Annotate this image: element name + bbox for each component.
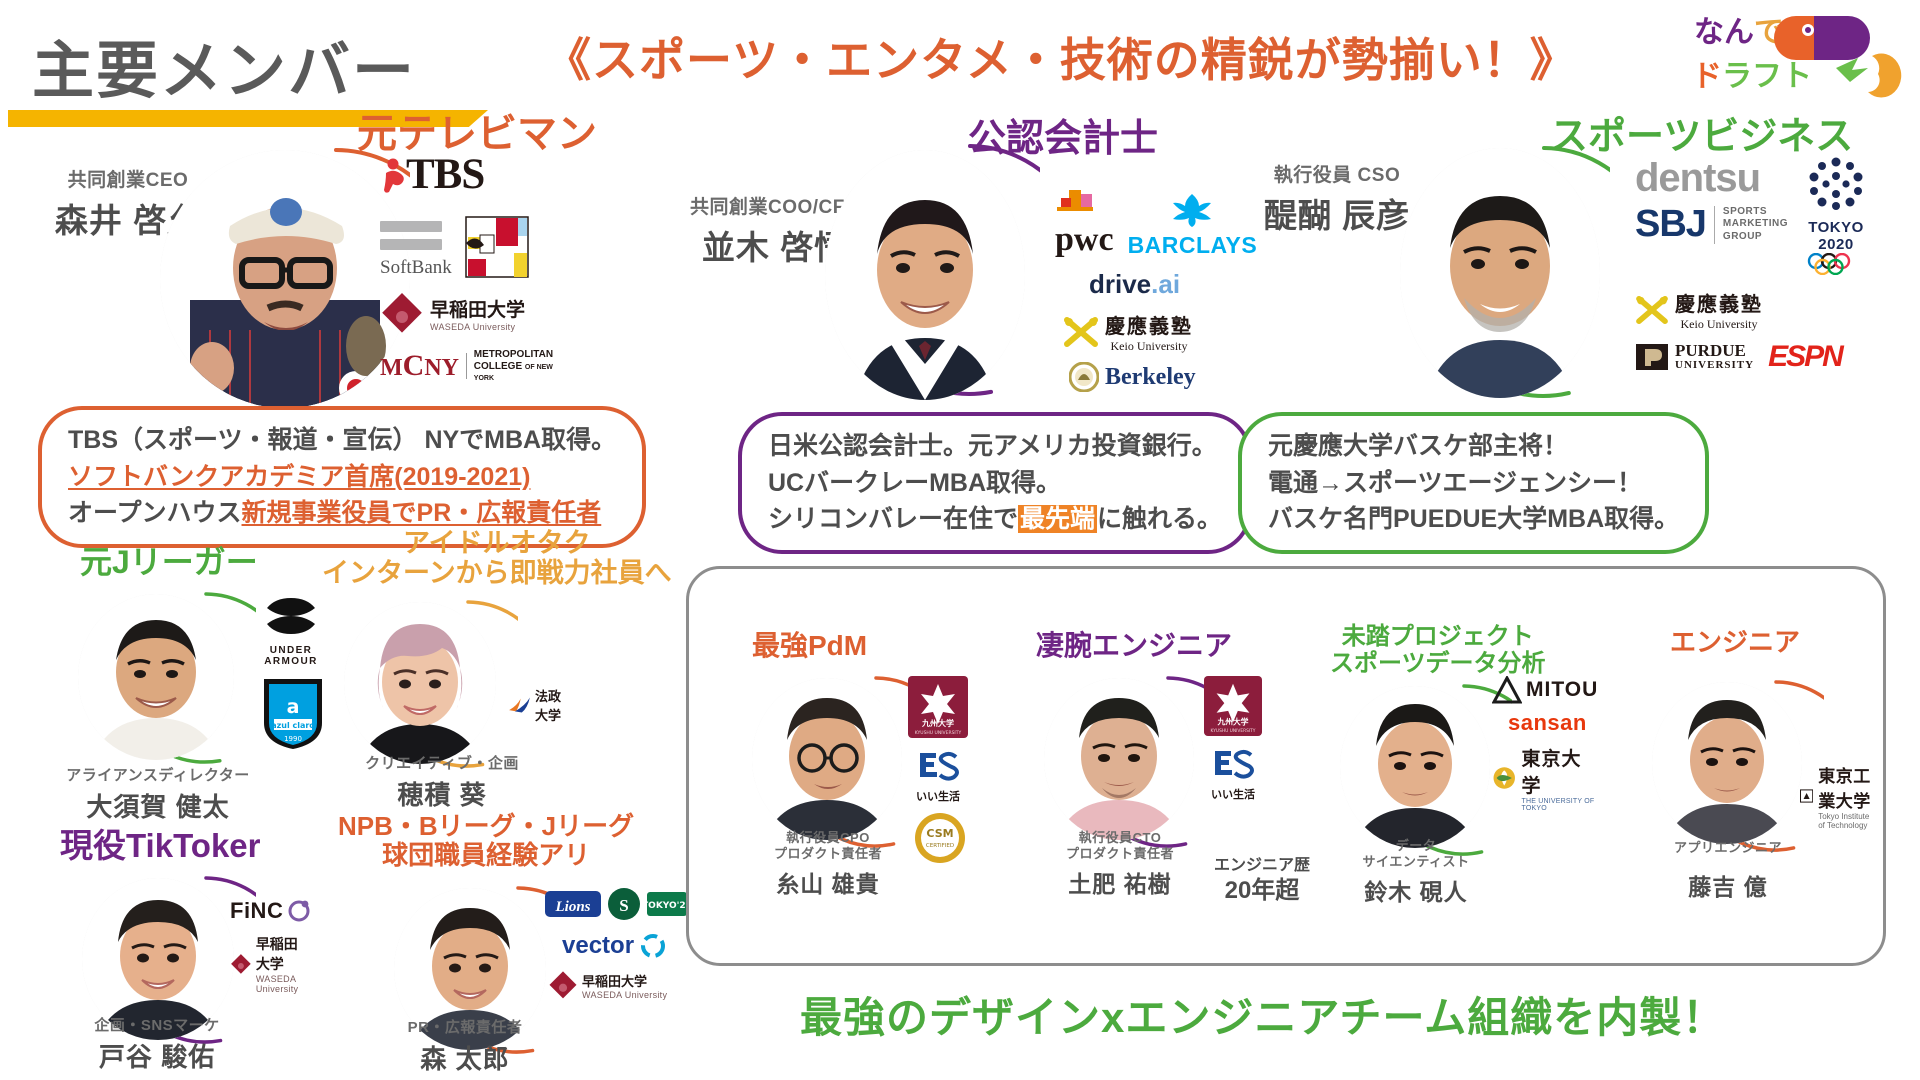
- member-5-role: クリエイティブ・企画 穂積 葵: [342, 752, 542, 812]
- member-3-logos: dentsu SBJ SPORTSMARKETINGGROUP: [1635, 156, 1868, 374]
- member-1-description: TBS（スポーツ・報道・宣伝） NYでMBA取得。 ソフトバンクアカデミア首席(…: [38, 406, 646, 548]
- kyushu-univ-icon: 九州大学 KYUSHU UNIVERSITY: [908, 676, 968, 738]
- member-2-description: 日米公認会計士。元アメリカ投資銀行。 UCバークレーMBA取得。 シリコンバレー…: [738, 412, 1252, 554]
- member-5-photo: [344, 602, 496, 764]
- member-3-description: 元慶應大学バスケ部主将！ 電通→スポーツエージェンシー！ バスケ名門PUEDUE…: [1238, 412, 1709, 554]
- kyushu-univ-icon: 九州大学 KYUSHU UNIVERSITY: [1204, 676, 1262, 736]
- iiseikatsu-label: いい生活: [908, 788, 968, 804]
- lions-logo-icon: Lions: [544, 887, 602, 921]
- csm-badge-icon: CSM CERTIFIED: [912, 810, 968, 866]
- headline-text: 《スポーツ・エンタメ・技術の精鋭が勢揃い！》: [545, 24, 1577, 90]
- waseda-label: 早稲田大学: [430, 295, 525, 322]
- mitou-logo: MITOU: [1526, 678, 1598, 702]
- purdue-p-icon: [1635, 342, 1669, 372]
- titech-mark-icon: [1800, 783, 1813, 809]
- purdue-logo: PURDUEUNIVERSITY: [1675, 342, 1754, 371]
- titech-sublabel: Tokyo Institute of Technology: [1818, 812, 1871, 830]
- slide-root: 主要メンバー 《スポーツ・エンタメ・技術の精鋭が勢揃い！》 なん でも ド ラフ…: [0, 0, 1920, 1080]
- todai-label: 東京大学: [1522, 744, 1599, 798]
- waseda-diamond-icon: [548, 970, 578, 1000]
- keio-sublabel: Keio University: [1105, 339, 1193, 354]
- pwc-mark-icon: [1055, 188, 1103, 216]
- engineer-3-category-lines: 未踏プロジェクト スポーツデータ分析: [1330, 624, 1546, 678]
- softbank-logo: SoftBank: [380, 221, 452, 279]
- tokyo2020-label: TOKYO 2020: [1804, 219, 1868, 253]
- svg-text:KYUSHU UNIVERSITY: KYUSHU UNIVERSITY: [1211, 728, 1256, 734]
- svg-text:CSM: CSM: [926, 827, 953, 840]
- footer-tagline: 最強のデザインxエンジニアチーム組織を内製！: [800, 984, 1725, 1045]
- member-4-role: アライアンスディレクター 大須賀 健太: [38, 764, 278, 824]
- member-6-category: 現役TikToker: [60, 828, 261, 865]
- waseda-diamond-icon: [230, 947, 252, 981]
- keio-pen-icon: [1063, 317, 1099, 347]
- todai-sublabel: THE UNIVERSITY OF TOKYO: [1522, 798, 1599, 812]
- engineer-2-category: 凄腕エンジニア: [1036, 630, 1232, 661]
- engineer-2-logos: 九州大学 KYUSHU UNIVERSITY いい生活: [1204, 676, 1262, 802]
- svg-text:九州大学: 九州大学: [921, 718, 954, 728]
- engineer-1-role: 執行役員CPO プロダクト責任者 糸山 雄貴: [738, 830, 918, 899]
- waseda-label: 早稲田大学: [582, 971, 667, 990]
- under-armour-icon: [252, 592, 330, 640]
- member-5-logos: 法政大学: [508, 686, 565, 724]
- olympic-rings-icon: [1805, 253, 1867, 275]
- tokyo2020-emblem-icon: [1804, 156, 1868, 214]
- under-armour-label: UNDER ARMOUR: [252, 645, 330, 667]
- es-logo-icon: [916, 749, 960, 783]
- engineer-4-role: アプリエンジニア 藤吉 億: [1638, 840, 1818, 902]
- keio-sublabel: Keio University: [1675, 317, 1763, 332]
- finc-mark-icon: [288, 900, 310, 922]
- member-3-photo: [1400, 148, 1600, 398]
- svg-text:TOKYO'23: TOKYO'23: [646, 901, 688, 911]
- waseda-crest-icon: [464, 215, 530, 279]
- keio-pen-icon: [1635, 296, 1669, 324]
- member-1-photo: [160, 150, 410, 408]
- svg-text:azul claro: azul claro: [271, 721, 315, 730]
- engineer-1-photo: [752, 678, 902, 840]
- sbj-sublabel: SPORTSMARKETINGGROUP: [1723, 206, 1788, 244]
- svg-text:なん: なん: [1694, 15, 1754, 50]
- iiseikatsu-label: いい生活: [1204, 786, 1262, 802]
- tokyo23-logo-icon: TOKYO'23: [646, 886, 688, 922]
- svg-text:ラフト: ラフト: [1722, 59, 1812, 94]
- azul-claro-crest-icon: a azul claro 1990: [260, 675, 326, 751]
- member-6-logos: FiNC 早稲田大学 WASEDA University: [230, 898, 311, 994]
- svg-text:a: a: [287, 696, 300, 718]
- mcny-logo: MCNY METROPOLITANCOLLEGE OF NEW YORK: [380, 349, 553, 384]
- member-4-category: 元Jリーガー: [80, 545, 258, 581]
- engineer-3-logos: MITOU sansan 東京大学 THE UNIVERSITY OF TOKY…: [1492, 676, 1598, 812]
- vector-mark-icon: [640, 933, 666, 959]
- engineer-2-photo: [1044, 678, 1194, 840]
- member-3-role: 執行役員 CSO 醍醐 辰彦: [1262, 160, 1412, 237]
- berkeley-seal-icon: [1069, 362, 1099, 392]
- dentsu-logo: dentsu: [1635, 156, 1788, 201]
- pwc-logo: pwc: [1055, 221, 1114, 259]
- svg-text:KYUSHU UNIVERSITY: KYUSHU UNIVERSITY: [915, 730, 962, 736]
- keio-label: 慶應義塾: [1105, 310, 1193, 339]
- waseda-sublabel: WASEDA University: [582, 990, 667, 1000]
- member-7-role: PR・広報責任者 森 太郎: [360, 1016, 570, 1076]
- tbs-logo: TBS: [406, 150, 484, 199]
- engineer-3-photo: [1340, 686, 1490, 848]
- sbj-logo: SBJ: [1635, 203, 1706, 246]
- todai-emblem-icon: [1492, 762, 1517, 794]
- member-2-logos: pwc BARCLAYS drive.ai 慶應義塾 Keio Univers: [1055, 188, 1257, 392]
- brand-logo: なん でも ド ラフト: [1686, 6, 1904, 98]
- svg-text:1990: 1990: [284, 735, 302, 743]
- member-4-photo: [78, 594, 234, 760]
- tbs-person-icon: [380, 157, 406, 193]
- finc-logo: FiNC: [230, 898, 283, 924]
- engineer-4-logos: 東京工業大学 Tokyo Institute of Technology: [1800, 762, 1871, 830]
- hosei-label: 法政大学: [535, 686, 565, 724]
- swallows-logo-icon: S: [606, 886, 642, 922]
- sansan-logo: sansan: [1508, 710, 1598, 736]
- vector-logo: vector: [562, 932, 634, 960]
- waseda-label: 早稲田大学: [256, 934, 311, 974]
- member-2-photo: [825, 150, 1025, 400]
- engineer-2-experience: エンジニア歴 20年超: [1196, 856, 1328, 906]
- member-7-logos: Lions S TOKYO'23 vector: [544, 886, 688, 1000]
- es-logo-icon: [1211, 747, 1255, 781]
- engineer-1-category: 最強PdM: [752, 630, 867, 661]
- waseda-sublabel: WASEDA University: [430, 322, 525, 332]
- svg-text:CERTIFIED: CERTIFIED: [926, 843, 954, 849]
- waseda-diamond-icon: [380, 291, 424, 335]
- member-1-logos: TBS SoftBank: [380, 150, 553, 384]
- member-7-category-lines: NPB・Bリーグ・Jリーグ 球団職員経験アリ: [338, 812, 634, 870]
- driveai-logo: drive.ai: [1089, 269, 1257, 300]
- engineer-2-role: 執行役員CTO プロダクト責任者 土肥 祐樹: [1030, 830, 1210, 899]
- barclays-eagle-icon: [1171, 193, 1213, 227]
- titech-label: 東京工業大学: [1818, 762, 1871, 812]
- page-title: 主要メンバー: [32, 20, 416, 110]
- keio-label: 慶應義塾: [1675, 288, 1763, 317]
- member-5-category-lines: アイドルオタク インターンから即戦力社員へ: [322, 528, 672, 588]
- svg-text:Lions: Lions: [554, 899, 590, 915]
- member-4-logos: UNDER ARMOUR a azul claro 1990: [252, 592, 330, 756]
- svg-text:S: S: [619, 896, 628, 915]
- hosei-mark-icon: [508, 690, 531, 720]
- member-6-role: 企画・SNSマーケ 戸谷 駿佑: [52, 1014, 262, 1074]
- mitou-mark-icon: [1492, 676, 1522, 704]
- berkeley-logo: Berkeley: [1105, 364, 1196, 391]
- espn-logo: ESPN: [1768, 340, 1842, 374]
- barclays-logo: BARCLAYS: [1128, 232, 1258, 259]
- svg-text:ド: ド: [1692, 59, 1722, 94]
- engineer-4-photo: [1652, 682, 1802, 844]
- svg-text:九州大学: 九州大学: [1217, 716, 1249, 726]
- waseda-sublabel: WASEDA University: [256, 974, 311, 994]
- engineer-4-category: エンジニア: [1670, 628, 1800, 657]
- engineer-3-role: データ サイエンティスト 鈴木 硯人: [1326, 838, 1506, 907]
